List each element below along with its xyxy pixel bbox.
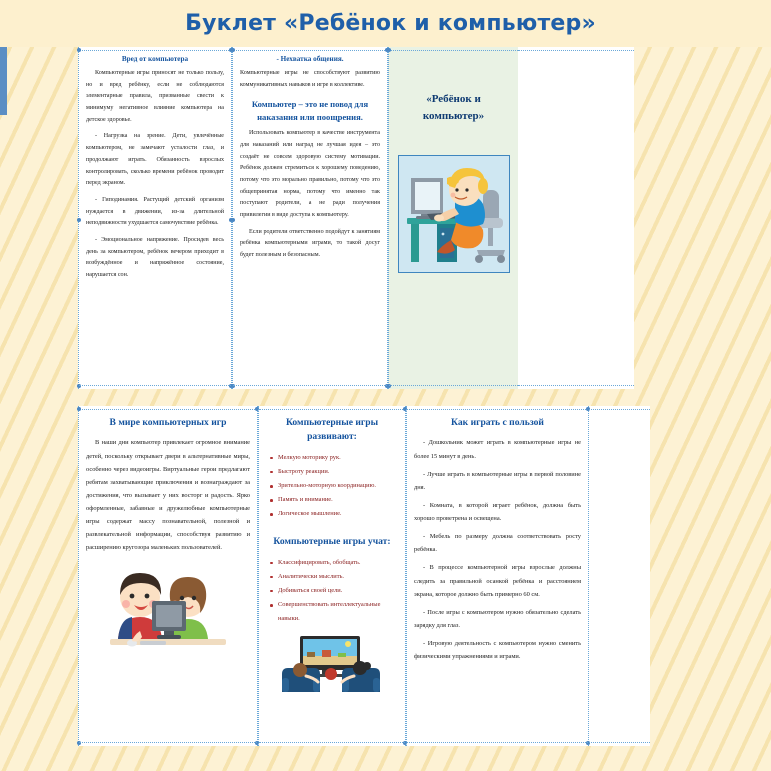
paragraph-motivation: Использовать компьютер в качестве инстру… — [240, 128, 380, 222]
panel-corner-dot — [77, 48, 81, 52]
panel-corner-dot — [387, 384, 391, 388]
heading-games-develop: Компьютерные игры развивают: — [266, 416, 398, 445]
rule-physical-activity: - Игровую деятельность с компьютером нуж… — [414, 637, 581, 663]
list-item: Классифицировать, обобщать. — [278, 556, 398, 570]
rule-posture-distance: - В процессе компьютерной игры взрослые … — [414, 561, 581, 600]
boy-and-girl-at-computer-illustration — [104, 569, 232, 655]
panel-corner-dot — [77, 384, 81, 388]
panel-corner-dot — [77, 407, 81, 411]
list-games-develop: Мелкую моторику рук. Быстроту реакции. З… — [266, 451, 398, 521]
rule-room-conditions: - Комната, в которой играет ребёнок, дол… — [414, 499, 581, 525]
panel-corner-dot — [231, 48, 235, 52]
kids-in-armchairs-watching-screen-illustration — [276, 634, 388, 696]
brochure-outer-sheet: Вред от компьютера Компьютерные игры при… — [78, 47, 634, 389]
panel-corner-dot — [387, 48, 391, 52]
brochure-inner-sheet: В мире компьютерных игр В наши дни компь… — [78, 406, 650, 746]
paragraph-hypodynamia: - Гиподинамия. Растущий детский организм… — [86, 195, 224, 230]
list-item: Мелкую моторику рук. — [278, 451, 398, 465]
list-item: Добиваться своей цели. — [278, 584, 398, 598]
panel-cover-margin — [518, 47, 634, 389]
list-item: Аналитически мыслить. — [278, 570, 398, 584]
list-item: Логическое мышление. — [278, 507, 398, 521]
panel-inner-margin — [589, 406, 650, 746]
heading-not-a-punishment: Компьютер – это не повод для наказания и… — [240, 98, 380, 123]
paragraph-harm-intro: Компьютерные игры приносят не только пол… — [86, 68, 224, 126]
panel-world-of-computer-games: В мире компьютерных игр В наши дни компь… — [78, 406, 258, 746]
rule-first-half-of-day: - Лучше играть в компьютерные игры в пер… — [414, 468, 581, 494]
heading-how-to-play: Как играть с пользой — [414, 416, 581, 430]
list-item: Совершенствовать интеллектуальные навыки… — [278, 598, 398, 626]
panel-mid-dot — [77, 218, 81, 222]
paragraph-emotional-strain: - Эмоциональное напряжение. Просидев вес… — [86, 235, 224, 282]
list-item: Память и внимание. — [278, 493, 398, 507]
cover-title: «Ребёнок и компьютер» — [396, 91, 511, 125]
paragraph-world-of-games: В наши дни компьютер привлекает огромное… — [86, 436, 250, 554]
rule-furniture-size: - Мебель по размеру должна соответствова… — [414, 530, 581, 556]
heading-world-of-games: В мире компьютерных игр — [86, 416, 250, 430]
panel-harm-from-computer: Вред от компьютера Компьютерные игры при… — [78, 47, 232, 389]
panel-cover: «Ребёнок и компьютер» — [388, 47, 518, 389]
panel-corner-dot — [77, 741, 81, 745]
panel-how-to-play-usefully: Как играть с пользой - Дошкольник может … — [406, 406, 589, 746]
heading-games-teach: Компьютерные игры учат: — [266, 535, 398, 549]
paragraph-eye-strain: - Нагрузка на зрение. Дети, увлечённые к… — [86, 131, 224, 189]
rule-eye-exercises: - После игры с компьютером нужно обязате… — [414, 606, 581, 632]
list-item: Зрительно-моторную координацию. — [278, 479, 398, 493]
panel-computer-not-a-reward: - Нехватка общения. Компьютерные игры не… — [232, 47, 388, 389]
header-band: Буклет «Ребёнок и компьютер» — [0, 0, 771, 47]
panel-games-develop-and-teach: Компьютерные игры развивают: Мелкую мото… — [258, 406, 406, 746]
panel-mid-dot — [231, 218, 235, 222]
paragraph-responsible-parents: Если родители ответственно подойдут к за… — [240, 227, 380, 262]
list-item: Быстроту реакции. — [278, 465, 398, 479]
list-games-teach: Классифицировать, обобщать. Аналитически… — [266, 556, 398, 626]
page-title: Буклет «Ребёнок и компьютер» — [0, 11, 771, 36]
panel-heading-lack-of-communication: - Нехватка общения. — [240, 55, 380, 63]
boy-at-computer-illustration — [398, 155, 510, 273]
panel-heading-harm: Вред от компьютера — [86, 55, 224, 63]
paragraph-lack-of-communication: Компьютерные игры не способствуют развит… — [240, 68, 380, 91]
rule-time-limit: - Дошкольник может играть в компьютерные… — [414, 436, 581, 462]
panel-corner-dot — [231, 384, 235, 388]
